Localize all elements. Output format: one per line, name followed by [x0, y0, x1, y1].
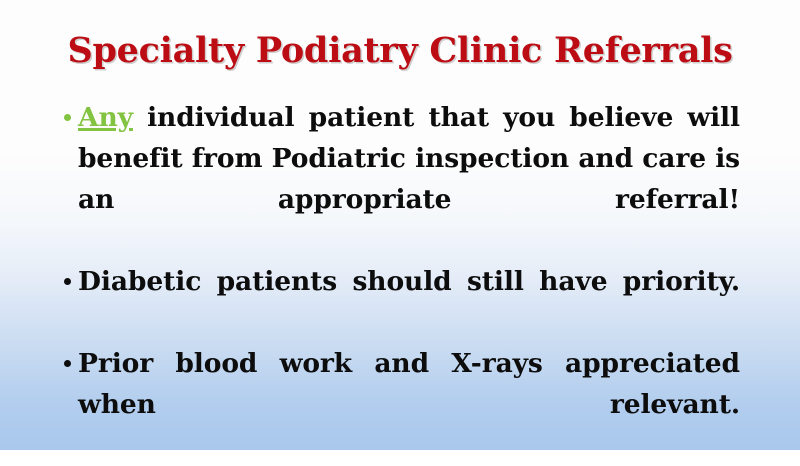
list-item-label: Prior blood work and X-rays appreciated …	[78, 348, 740, 420]
bullet-dot-icon	[64, 360, 71, 367]
bullet-dot-icon	[64, 114, 71, 121]
bullet-dot-icon	[64, 278, 71, 285]
page-title: Specialty Podiatry Clinic Referrals	[67, 33, 732, 70]
slide-body-placeholder[interactable]: Any individual patient that you believe …	[62, 97, 742, 466]
bullet-list: Any individual patient that you believe …	[62, 97, 742, 466]
list-item-label: individual patient that you believe will…	[78, 102, 740, 215]
list-item[interactable]: Diabetic patients should still have prio…	[62, 261, 740, 343]
slide-title-placeholder[interactable]: Specialty Podiatry Clinic Referrals	[40, 20, 760, 82]
presentation-slide: Specialty Podiatry Clinic Referrals Any …	[0, 0, 800, 450]
list-item-label: Diabetic patients should still have prio…	[78, 266, 740, 297]
list-item[interactable]: Prior blood work and X-rays appreciated …	[62, 343, 740, 466]
list-item[interactable]: Any individual patient that you believe …	[62, 97, 740, 261]
emphasis-any: Any	[78, 102, 133, 133]
